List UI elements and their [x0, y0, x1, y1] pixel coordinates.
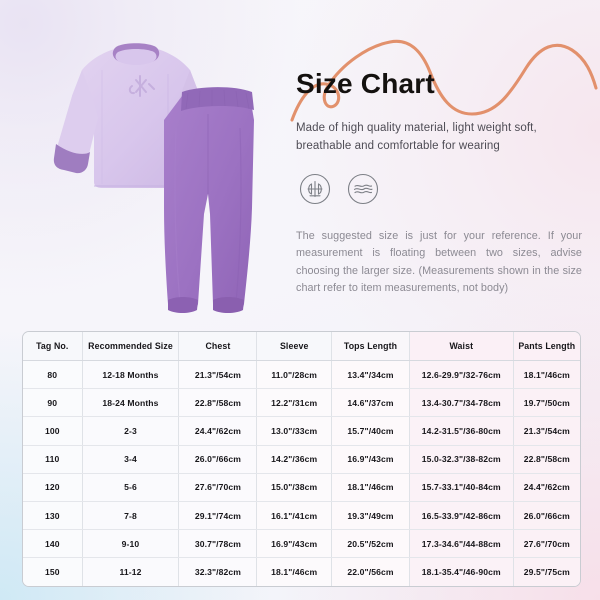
- sizing-note: The suggested size is just for your refe…: [296, 228, 582, 298]
- cell-chest: 30.7"/78cm: [179, 530, 257, 558]
- cell-tag-no: 110: [23, 445, 82, 473]
- cell-tag-no: 100: [23, 417, 82, 445]
- column-header-tag-no: Tag No.: [23, 332, 82, 361]
- cell-recommended-size: 3-4: [82, 445, 179, 473]
- table-row: 140 9-10 30.7"/78cm 16.9"/43cm 20.5"/52c…: [23, 530, 580, 558]
- cell-sleeve: 12.2"/31cm: [257, 389, 332, 417]
- table-row: 120 5-6 27.6"/70cm 15.0"/38cm 18.1"/46cm…: [23, 473, 580, 501]
- table-row: 80 12-18 Months 21.3"/54cm 11.0"/28cm 13…: [23, 361, 580, 389]
- cell-tops-length: 22.0"/56cm: [332, 558, 410, 586]
- column-header-tops-length: Tops Length: [332, 332, 410, 361]
- pajama-pants: [164, 87, 254, 313]
- cell-waist: 15.0-32.3"/38-82cm: [410, 445, 514, 473]
- product-image: [18, 18, 286, 318]
- cell-recommended-size: 12-18 Months: [82, 361, 179, 389]
- cell-pants-length: 19.7"/50cm: [513, 389, 580, 417]
- cell-pants-length: 29.5"/75cm: [513, 558, 580, 586]
- cell-sleeve: 11.0"/28cm: [257, 361, 332, 389]
- size-table: Tag No. Recommended Size Chest Sleeve To…: [23, 332, 580, 586]
- cell-chest: 29.1"/74cm: [179, 501, 257, 529]
- cell-sleeve: 13.0"/33cm: [257, 417, 332, 445]
- cell-pants-length: 27.6"/70cm: [513, 530, 580, 558]
- cell-sleeve: 18.1"/46cm: [257, 558, 332, 586]
- column-header-pants-length: Pants Length: [513, 332, 580, 361]
- care-icon-group: [298, 172, 582, 206]
- cell-sleeve: 15.0"/38cm: [257, 473, 332, 501]
- info-column: Size Chart Made of high quality material…: [296, 70, 582, 298]
- cell-waist: 13.4-30.7"/34-78cm: [410, 389, 514, 417]
- cell-tops-length: 19.3"/49cm: [332, 501, 410, 529]
- cell-chest: 24.4"/62cm: [179, 417, 257, 445]
- soft-wavy-fabric-icon: [346, 172, 380, 206]
- cell-tag-no: 150: [23, 558, 82, 586]
- cell-tag-no: 90: [23, 389, 82, 417]
- column-header-recommended-size: Recommended Size: [82, 332, 179, 361]
- cell-waist: 17.3-34.6"/44-88cm: [410, 530, 514, 558]
- cell-waist: 14.2-31.5"/36-80cm: [410, 417, 514, 445]
- cell-tops-length: 18.1"/46cm: [332, 473, 410, 501]
- cell-tops-length: 14.6"/37cm: [332, 389, 410, 417]
- cell-chest: 21.3"/54cm: [179, 361, 257, 389]
- table-row: 110 3-4 26.0"/66cm 14.2"/36cm 16.9"/43cm…: [23, 445, 580, 473]
- column-header-sleeve: Sleeve: [257, 332, 332, 361]
- cell-recommended-size: 7-8: [82, 501, 179, 529]
- table-row: 130 7-8 29.1"/74cm 16.1"/41cm 19.3"/49cm…: [23, 501, 580, 529]
- cell-chest: 32.3"/82cm: [179, 558, 257, 586]
- cell-tag-no: 130: [23, 501, 82, 529]
- cell-recommended-size: 5-6: [82, 473, 179, 501]
- cell-chest: 27.6"/70cm: [179, 473, 257, 501]
- size-table-container: Tag No. Recommended Size Chest Sleeve To…: [22, 331, 581, 587]
- cell-pants-length: 26.0"/66cm: [513, 501, 580, 529]
- cell-chest: 26.0"/66cm: [179, 445, 257, 473]
- table-row: 100 2-3 24.4"/62cm 13.0"/33cm 15.7"/40cm…: [23, 417, 580, 445]
- table-row: 90 18-24 Months 22.8"/58cm 12.2"/31cm 14…: [23, 389, 580, 417]
- cell-recommended-size: 11-12: [82, 558, 179, 586]
- cell-pants-length: 18.1"/46cm: [513, 361, 580, 389]
- cell-tops-length: 20.5"/52cm: [332, 530, 410, 558]
- cell-pants-length: 21.3"/54cm: [513, 417, 580, 445]
- cell-waist: 18.1-35.4"/46-90cm: [410, 558, 514, 586]
- cell-pants-length: 24.4"/62cm: [513, 473, 580, 501]
- table-header-row: Tag No. Recommended Size Chest Sleeve To…: [23, 332, 580, 361]
- product-subtitle: Made of high quality material, light wei…: [296, 120, 582, 156]
- cell-tag-no: 80: [23, 361, 82, 389]
- cell-tag-no: 120: [23, 473, 82, 501]
- cell-recommended-size: 18-24 Months: [82, 389, 179, 417]
- cell-sleeve: 14.2"/36cm: [257, 445, 332, 473]
- column-header-waist: Waist: [410, 332, 514, 361]
- cell-tops-length: 13.4"/34cm: [332, 361, 410, 389]
- cell-waist: 15.7-33.1"/40-84cm: [410, 473, 514, 501]
- cell-recommended-size: 9-10: [82, 530, 179, 558]
- cell-tag-no: 140: [23, 530, 82, 558]
- cell-tops-length: 15.7"/40cm: [332, 417, 410, 445]
- page-title: Size Chart: [296, 70, 582, 98]
- cell-chest: 22.8"/58cm: [179, 389, 257, 417]
- cell-recommended-size: 2-3: [82, 417, 179, 445]
- cell-tops-length: 16.9"/43cm: [332, 445, 410, 473]
- cell-waist: 16.5-33.9"/42-86cm: [410, 501, 514, 529]
- table-row: 150 11-12 32.3"/82cm 18.1"/46cm 22.0"/56…: [23, 558, 580, 586]
- cell-sleeve: 16.1"/41cm: [257, 501, 332, 529]
- cell-waist: 12.6-29.9"/32-76cm: [410, 361, 514, 389]
- size-chart-page: Size Chart Made of high quality material…: [0, 0, 600, 600]
- column-header-chest: Chest: [179, 332, 257, 361]
- breathable-fabric-icon: [298, 172, 332, 206]
- cell-pants-length: 22.8"/58cm: [513, 445, 580, 473]
- cell-sleeve: 16.9"/43cm: [257, 530, 332, 558]
